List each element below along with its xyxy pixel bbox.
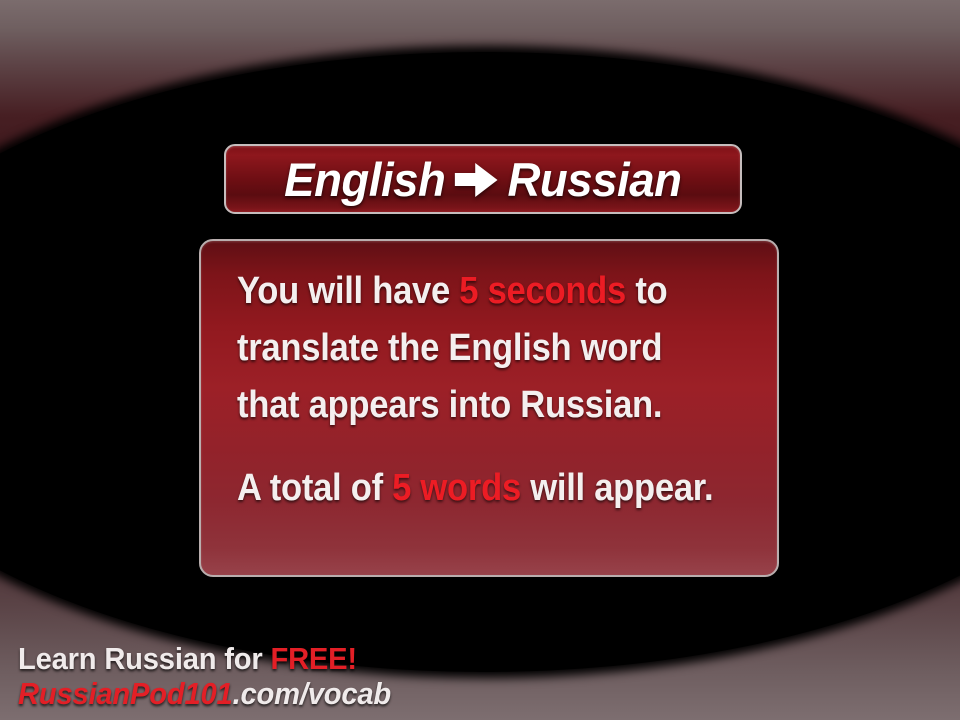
instruction-line-1: You will have 5 seconds to [237, 263, 701, 320]
footer-tagline: Learn Russian for FREE! [18, 642, 582, 676]
footer-url-path: .com/vocab [233, 676, 391, 711]
instruction-line-4-suffix: will appear. [521, 467, 713, 509]
paragraph-spacer [237, 434, 701, 460]
footer-website-url[interactable]: RussianPod101.com/vocab [18, 676, 582, 712]
target-language-label: Russian [508, 152, 682, 207]
instructions-panel: You will have 5 seconds to translate the… [199, 239, 779, 577]
instruction-line-3: that appears into Russian. [237, 377, 701, 434]
instruction-line-1-suffix: to [626, 270, 667, 312]
instruction-line-1-prefix: You will have [237, 270, 459, 312]
seconds-highlight: 5 seconds [459, 270, 626, 312]
footer-brand-name: RussianPod101 [18, 676, 233, 711]
language-direction-banner: English Russian [224, 144, 742, 214]
arrow-head [476, 163, 498, 197]
language-direction-label: English Russian [284, 152, 681, 207]
instruction-line-4: A total of 5 words will appear. [237, 460, 701, 517]
slide-canvas: English Russian You will have 5 seconds … [0, 0, 960, 720]
footer-tagline-prefix: Learn Russian for [18, 641, 270, 676]
right-arrow-icon [455, 162, 498, 196]
footer-branding: Learn Russian for FREE! RussianPod101.co… [18, 642, 618, 712]
instruction-line-2: translate the English word [237, 320, 701, 377]
instruction-line-4-prefix: A total of [237, 467, 392, 509]
words-highlight: 5 words [392, 467, 521, 509]
footer-free-label: FREE! [270, 641, 356, 676]
source-language-label: English [284, 152, 445, 207]
